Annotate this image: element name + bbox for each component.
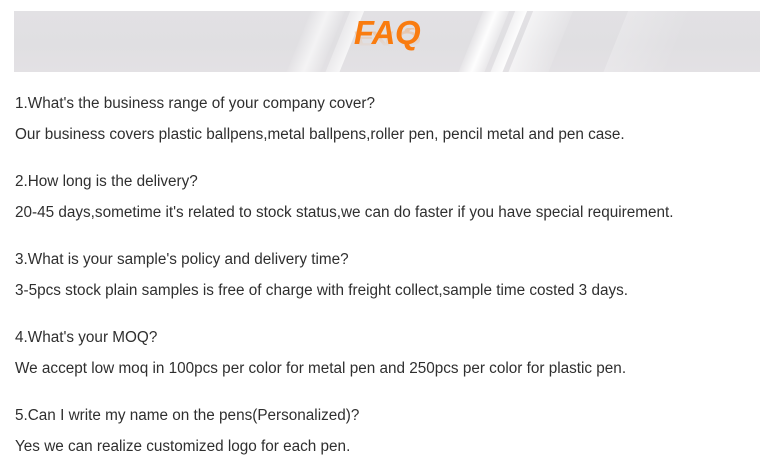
faq-title-reflection: FAQ [14,28,760,49]
faq-answer: We accept low moq in 100pcs per color fo… [15,353,755,384]
faq-question: 4.What's your MOQ? [15,322,755,353]
faq-item: 5.Can I write my name on the pens(Person… [15,400,755,462]
faq-content: 1.What's the business range of your comp… [15,88,755,462]
faq-answer: Yes we can realize customized logo for e… [15,431,755,462]
faq-question: 3.What is your sample's policy and deliv… [15,244,755,275]
faq-header-banner: FAQ FAQ [14,11,760,72]
faq-item: 3.What is your sample's policy and deliv… [15,244,755,306]
faq-question: 1.What's the business range of your comp… [15,88,755,119]
faq-page: FAQ FAQ 1.What's the business range of y… [0,0,770,472]
faq-question: 2.How long is the delivery? [15,166,755,197]
faq-item: 2.How long is the delivery? 20-45 days,s… [15,166,755,228]
faq-answer: 3-5pcs stock plain samples is free of ch… [15,275,755,306]
faq-answer: Our business covers plastic ballpens,met… [15,119,755,150]
faq-item: 1.What's the business range of your comp… [15,88,755,150]
faq-answer: 20-45 days,sometime it's related to stoc… [15,197,715,228]
faq-question: 5.Can I write my name on the pens(Person… [15,400,755,431]
faq-item: 4.What's your MOQ? We accept low moq in … [15,322,755,384]
faq-title-group: FAQ FAQ [14,11,760,72]
